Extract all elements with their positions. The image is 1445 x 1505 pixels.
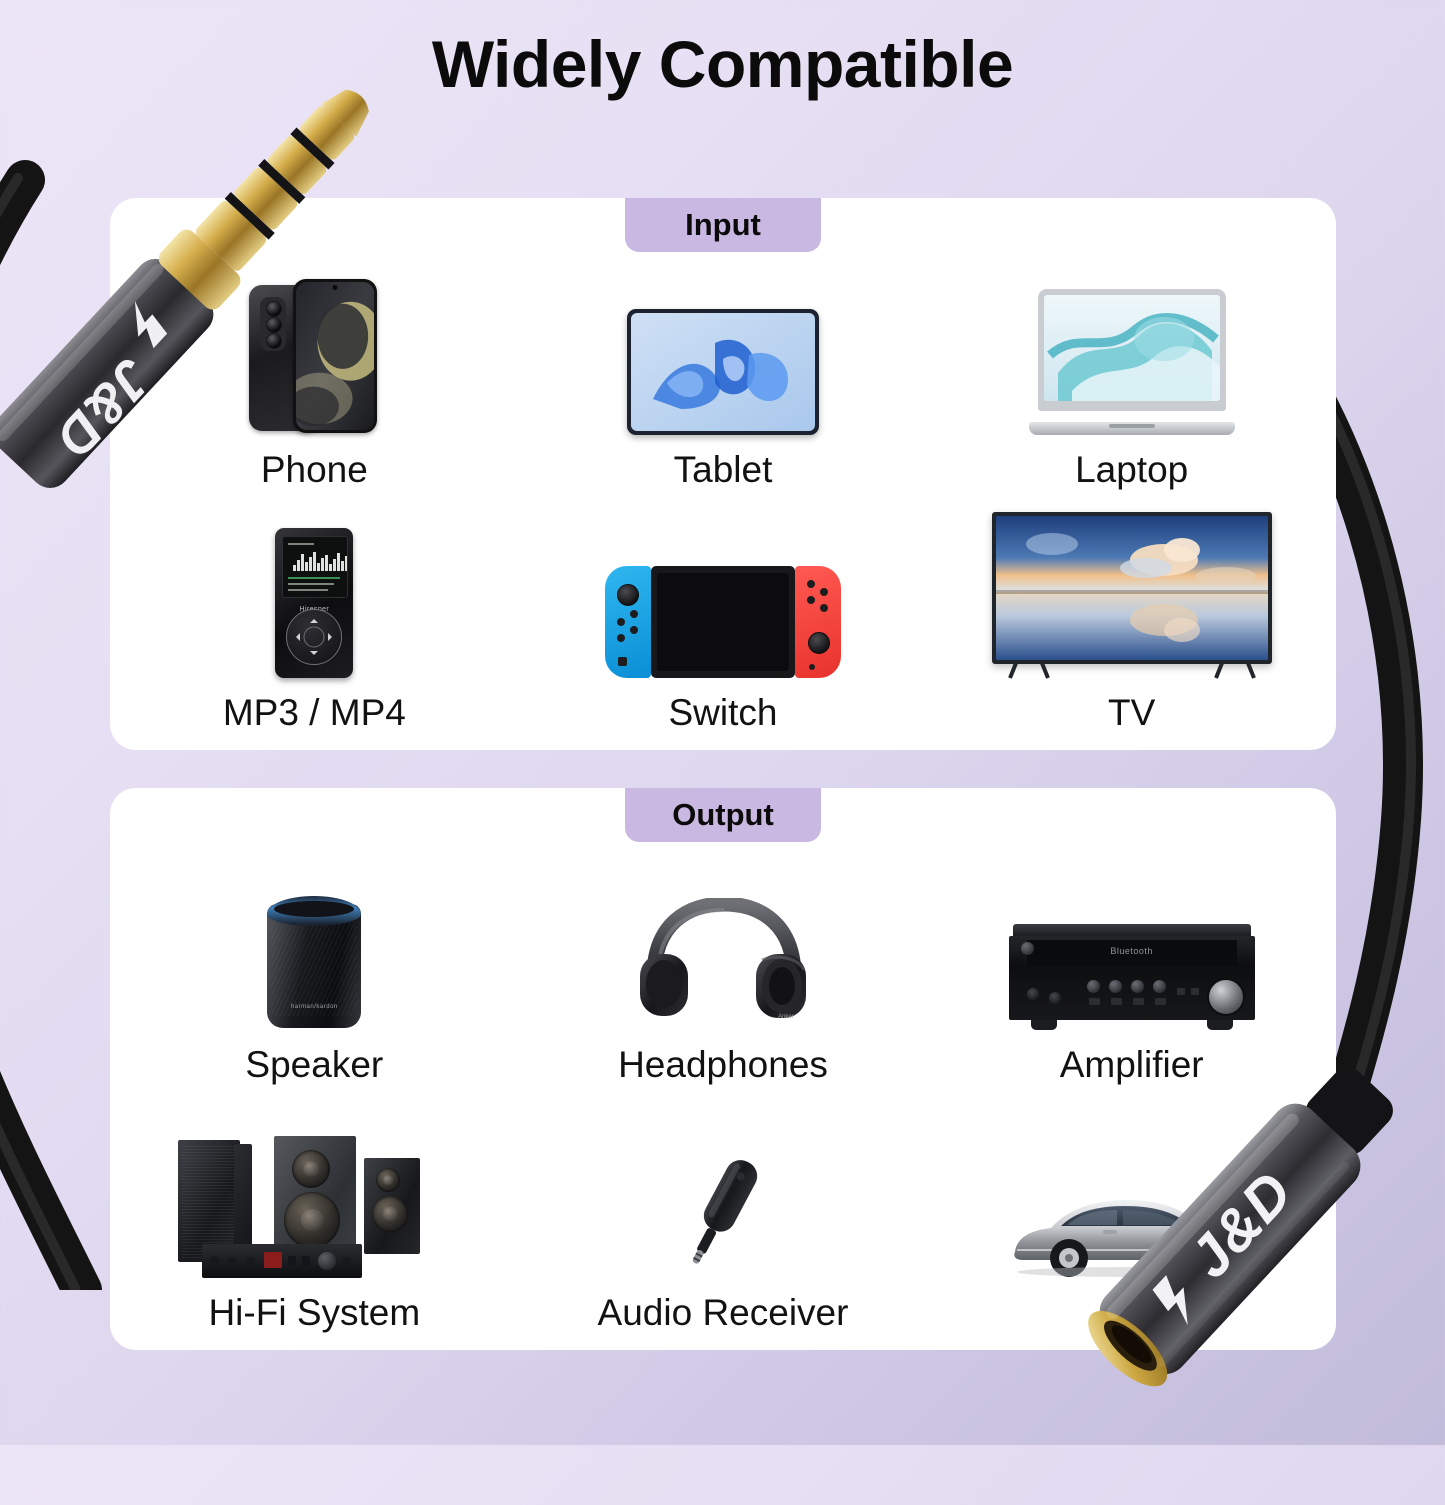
device-label: Headphones xyxy=(618,1044,828,1086)
device-item-phone[interactable]: Phone xyxy=(110,254,519,497)
game-console-icon xyxy=(605,500,841,678)
device-label: Amplifier xyxy=(1060,1044,1204,1086)
tablet-icon xyxy=(627,257,819,435)
output-section-badge: Output xyxy=(625,788,821,842)
device-item-audio-receiver[interactable]: Audio Receiver xyxy=(519,1092,928,1340)
svg-text:Anker: Anker xyxy=(778,1014,794,1020)
device-item-speaker[interactable]: harman/kardon Speaker xyxy=(110,844,519,1092)
device-label: Switch xyxy=(669,692,778,734)
car-icon xyxy=(1007,1100,1257,1278)
device-label: Audio Receiver xyxy=(598,1292,849,1334)
input-device-grid: Phone xyxy=(110,254,1336,740)
device-label: TV xyxy=(1108,692,1155,734)
device-item-car[interactable]: Car xyxy=(927,1092,1336,1340)
device-item-tv[interactable]: TV xyxy=(927,497,1336,740)
smartphone-icon xyxy=(249,257,379,435)
hifi-system-icon xyxy=(178,1100,450,1278)
device-item-hifi[interactable]: Hi-Fi System xyxy=(110,1092,519,1340)
device-item-tablet[interactable]: Tablet xyxy=(519,254,928,497)
device-label: Tablet xyxy=(674,449,773,491)
device-label: Phone xyxy=(261,449,368,491)
smart-speaker-icon: harman/kardon xyxy=(261,852,367,1030)
device-item-headphones[interactable]: Anker Headphones xyxy=(519,844,928,1092)
bluetooth-dongle-icon xyxy=(663,1100,783,1278)
device-label: Car xyxy=(1102,1292,1162,1334)
device-label: Laptop xyxy=(1075,449,1188,491)
device-label: Speaker xyxy=(245,1044,383,1086)
device-label: MP3 / MP4 xyxy=(223,692,406,734)
device-label: Hi-Fi System xyxy=(208,1292,420,1334)
input-section-badge: Input xyxy=(625,198,821,252)
headphones-icon: Anker xyxy=(628,852,818,1030)
device-item-switch[interactable]: Switch xyxy=(519,497,928,740)
laptop-icon xyxy=(1029,257,1235,435)
television-icon xyxy=(992,500,1272,678)
output-section-panel: Output harman/kardon Speaker xyxy=(110,788,1336,1350)
av-receiver-icon: Bluetooth xyxy=(1009,852,1255,1030)
mp3-player-icon: Hiresper xyxy=(275,500,353,678)
device-item-amplifier[interactable]: Bluetooth xyxy=(927,844,1336,1092)
amplifier-display-text: Bluetooth xyxy=(1027,946,1237,956)
input-section-panel: Input xyxy=(110,198,1336,750)
page-title: Widely Compatible xyxy=(0,26,1445,102)
device-item-laptop[interactable]: Laptop xyxy=(927,254,1336,497)
output-device-grid: harman/kardon Speaker xyxy=(110,844,1336,1340)
device-item-mp3[interactable]: Hiresper MP3 / MP4 xyxy=(110,497,519,740)
